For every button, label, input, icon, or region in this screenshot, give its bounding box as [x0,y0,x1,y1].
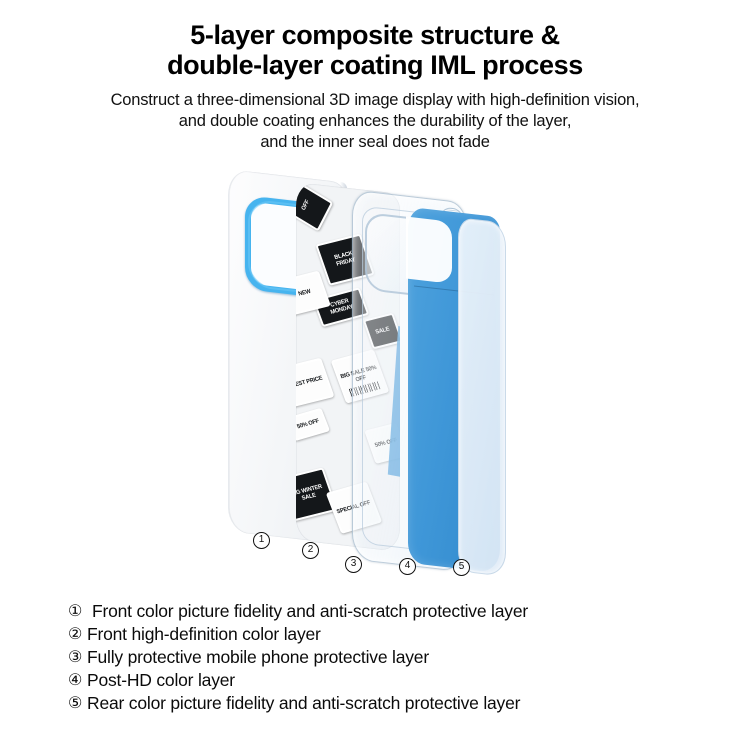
legend-label-1: Front color picture fidelity and anti-sc… [87,600,528,623]
camera-cutout-notch [406,217,452,284]
legend-item-2: ② Front high-definition color layer [68,623,728,646]
title-line-1: 5-layer composite structure & [0,20,750,50]
header: 5-layer composite structure & double-lay… [0,0,750,153]
subtitle-line-3: and the inner seal does not fade [0,132,750,153]
subtitle-line-2: and double coating enhances the durabili… [0,111,750,132]
legend-number-4: ④ [68,669,87,692]
title-line-2: double-layer coating IML process [0,50,750,80]
legend-item-5: ⑤ Rear color picture fidelity and anti-s… [68,692,728,715]
infographic-page: 5-layer composite structure & double-lay… [0,0,750,750]
price-tag-text: OFF [300,198,313,214]
exploded-view-diagram: SALE OFF BLACK FRIDAY CYBER MONDAY NEW B… [0,168,750,588]
diagram-marker-3: 3 [345,556,362,573]
diagram-marker-5: 5 [453,559,470,576]
legend-item-3: ③ Fully protective mobile phone protecti… [68,646,728,669]
diagram-marker-4: 4 [399,558,416,575]
legend-number-1: ① [68,600,87,623]
subtitle-line-1: Construct a three-dimensional 3D image d… [0,90,750,111]
page-title: 5-layer composite structure & double-lay… [0,0,750,80]
legend-label-5: Rear color picture fidelity and anti-scr… [87,692,520,715]
legend-item-4: ④ Post-HD color layer [68,669,728,692]
page-subtitle: Construct a three-dimensional 3D image d… [0,80,750,153]
legend-number-2: ② [68,623,87,646]
price-tag: 50% OFF [296,408,331,441]
price-tag-text: BEST PRICE [296,374,325,391]
diagram-marker-1: 1 [253,532,270,549]
legend-number-3: ③ [68,646,87,669]
legend-label-3: Fully protective mobile phone protective… [87,646,429,669]
diagram-marker-2: 2 [302,542,319,559]
legend-label-4: Post-HD color layer [87,669,235,692]
legend-number-5: ⑤ [68,692,87,715]
price-tag: BEST PRICE [296,358,335,407]
price-tag-text: 50% OFF [296,417,322,432]
legend-list: ① Front color picture fidelity and anti-… [68,600,728,715]
legend-item-1: ① Front color picture fidelity and anti-… [68,600,728,623]
legend-label-2: Front high-definition color layer [87,623,321,646]
price-tag-text: NEW [297,287,314,299]
layer-5-rear-protective-panel [458,217,506,576]
price-tag: OFF [296,182,334,232]
